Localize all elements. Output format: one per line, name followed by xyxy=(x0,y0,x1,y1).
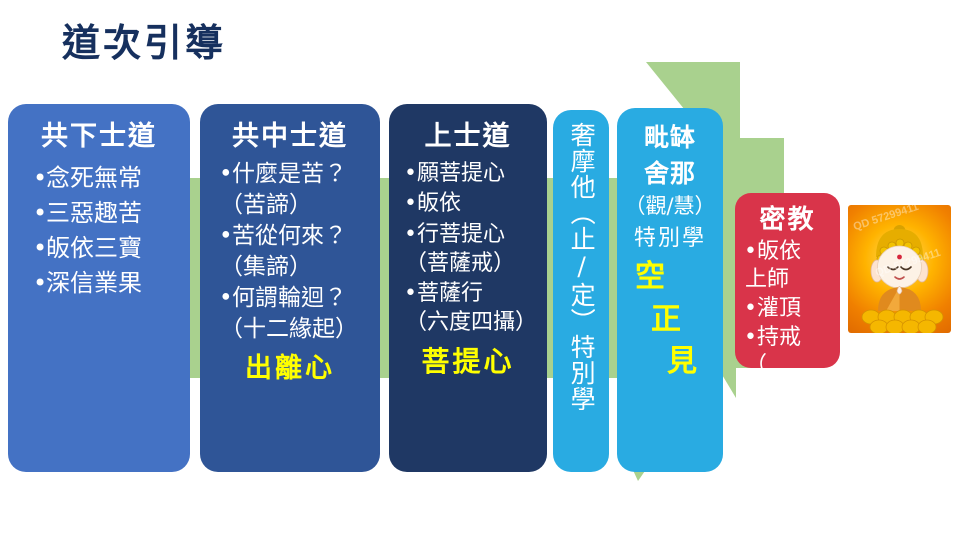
card-highlight-text: 出離心 xyxy=(208,346,372,385)
bullet-dot-icon: • xyxy=(404,189,417,218)
card-highlight-stagger: 空 正 見 xyxy=(621,256,719,384)
list-item-label: 皈依 xyxy=(757,239,801,264)
card-title: 密教 xyxy=(739,199,836,236)
list-item: • 灌頂 xyxy=(743,295,836,323)
list-item: • 行菩提心 （菩薩戒） xyxy=(403,220,541,279)
bullet-dot-icon: • xyxy=(33,161,47,195)
list-item-sublabel: （十二緣起） xyxy=(220,314,372,345)
bullet-dot-icon: • xyxy=(404,220,417,249)
list-item-sublabel: （菩薩戒） xyxy=(405,249,541,278)
bullet-dot-icon: • xyxy=(744,324,757,352)
list-item: • 苦從何來？ （集諦） xyxy=(218,221,372,282)
list-item-sublabel: （ xyxy=(745,352,836,368)
highlight-char: 空 xyxy=(635,256,719,299)
buddha-illustration xyxy=(848,205,951,333)
slide-canvas: 道次引導 共下士道 • 念死無常 • 三惡趣苦 xyxy=(0,0,960,540)
bullet-dot-icon: • xyxy=(404,159,417,188)
list-item-sublabel: （苦諦） xyxy=(220,190,372,221)
card-bullet-list: • 什麼是苦？ （苦諦） • 苦從何來？ （集諦） • 何謂輪迴？ （十二緣起） xyxy=(208,159,372,344)
card-title-line3: （觀/慧） xyxy=(621,190,719,220)
card-title-line1: 毗缽 xyxy=(621,118,719,154)
list-item: • 持戒 （ xyxy=(743,324,836,368)
stage-card-shangshidao[interactable]: 上士道 • 願菩提心 • 皈依 • 行菩提心 （菩薩戒） • 菩薩行 （六度四攝… xyxy=(389,104,547,472)
bullet-dot-icon: • xyxy=(744,238,757,266)
highlight-char: 見 xyxy=(667,341,719,384)
list-item-label: 三惡趣苦 xyxy=(46,199,142,227)
list-item-label: 願菩提心 xyxy=(417,161,505,186)
list-item: • 菩薩行 （六度四攝） xyxy=(403,279,541,338)
list-item-label: 皈依三寶 xyxy=(46,234,142,262)
card-title-line4: 特別學 xyxy=(621,220,719,252)
card-title: 共下士道 xyxy=(16,114,182,153)
list-item: • 皈依 xyxy=(403,189,541,218)
card-bullet-list: • 念死無常 • 三惡趣苦 • 皈依三寶 • 深信業果 xyxy=(16,161,182,300)
stage-card-gongzhongshidao[interactable]: 共中士道 • 什麼是苦？ （苦諦） • 苦從何來？ （集諦） • 何謂輪迴？ （… xyxy=(200,104,380,472)
list-item-label: 苦從何來？ xyxy=(232,223,347,249)
list-item: • 願菩提心 xyxy=(403,159,541,188)
list-item-label: 什麼是苦？ xyxy=(232,161,347,187)
list-item: • 皈依三寶 xyxy=(32,231,182,265)
bullet-dot-icon: • xyxy=(33,266,47,300)
list-item-label: 何謂輪迴？ xyxy=(232,285,347,311)
list-item-sublabel: （六度四攝） xyxy=(405,308,541,337)
list-item-label: 皈依 xyxy=(417,191,461,216)
list-item: • 何謂輪迴？ （十二緣起） xyxy=(218,283,372,344)
bullet-dot-icon: • xyxy=(744,295,757,323)
list-item-label: 深信業果 xyxy=(46,269,142,297)
list-item: • 念死無常 xyxy=(32,161,182,195)
list-item-label: 念死無常 xyxy=(46,164,142,192)
list-item: • 皈依 上師 xyxy=(743,238,836,294)
list-item-label: 菩薩行 xyxy=(417,281,483,306)
stage-card-gongxiashidao[interactable]: 共下士道 • 念死無常 • 三惡趣苦 • 皈依三寶 • 深信業果 xyxy=(8,104,190,472)
stage-card-mijiao[interactable]: 密教 • 皈依 上師 • 灌頂 • 持戒 （ xyxy=(735,193,840,368)
bullet-dot-icon: • xyxy=(404,279,417,308)
card-title: 上士道 xyxy=(395,114,541,153)
cartoon-buddha-image: QD 57299411 QD 57299411 xyxy=(848,205,951,333)
list-item-label: 持戒 xyxy=(757,325,801,350)
bullet-dot-icon: • xyxy=(219,283,233,314)
list-item-label: 灌頂 xyxy=(757,296,801,321)
bullet-dot-icon: • xyxy=(219,159,233,190)
card-highlight-text: 菩提心 xyxy=(395,340,541,380)
bullet-dot-icon: • xyxy=(33,196,47,230)
card-bullet-list: • 皈依 上師 • 灌頂 • 持戒 （ xyxy=(739,238,836,368)
list-item: • 三惡趣苦 xyxy=(32,196,182,230)
page-title: 道次引導 xyxy=(62,22,226,64)
card-title: 共中士道 xyxy=(208,114,372,153)
card-vertical-label: 奢摩他（止/定）特別學 xyxy=(568,122,594,462)
card-bullet-list: • 願菩提心 • 皈依 • 行菩提心 （菩薩戒） • 菩薩行 （六度四攝） xyxy=(395,159,541,338)
bullet-dot-icon: • xyxy=(33,231,47,265)
bullet-dot-icon: • xyxy=(219,221,233,252)
stage-card-pibosheena[interactable]: 毗缽 舍那 （觀/慧） 特別學 空 正 見 xyxy=(617,108,723,472)
stage-card-shemotuo[interactable]: 奢摩他（止/定）特別學 xyxy=(553,110,609,472)
list-item-label: 行菩提心 xyxy=(417,222,505,247)
list-item: • 深信業果 xyxy=(32,266,182,300)
list-item-sublabel: （集諦） xyxy=(220,252,372,283)
card-title-line2: 舍那 xyxy=(621,154,719,190)
highlight-char: 正 xyxy=(651,299,719,342)
list-item-sublabel: 上師 xyxy=(745,266,836,294)
list-item: • 什麼是苦？ （苦諦） xyxy=(218,159,372,220)
